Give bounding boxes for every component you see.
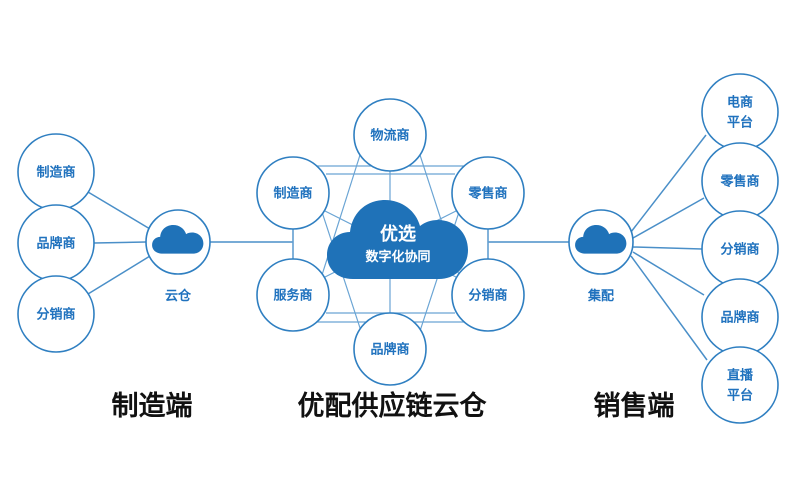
hub-cloud-node[interactable]: 优选 数字化协同 bbox=[327, 200, 468, 279]
link-left-dist-cloud bbox=[88, 256, 150, 294]
diagram-canvas: 制造商 品牌商 分销商 云仓 物流商 bbox=[0, 0, 801, 500]
supply-chain-diagram: 制造商 品牌商 分销商 云仓 物流商 bbox=[0, 0, 801, 500]
link-left-brand-cloud bbox=[94, 242, 146, 243]
node-hex-brand[interactable]: 品牌商 bbox=[354, 313, 426, 385]
node-label: 服务商 bbox=[273, 287, 312, 302]
node-right-brand[interactable]: 品牌商 bbox=[702, 279, 778, 355]
node-circle[interactable] bbox=[702, 74, 778, 150]
node-right-retailer[interactable]: 零售商 bbox=[702, 143, 778, 219]
section-titles: 制造端 优配供应链云仓 销售端 bbox=[112, 390, 675, 421]
node-label: 制造商 bbox=[36, 164, 75, 179]
link-consol-retailer bbox=[633, 198, 704, 238]
node-label: 品牌商 bbox=[720, 309, 759, 324]
cloud-warehouse-label: 云仓 bbox=[165, 288, 192, 303]
hub-title: 优选 bbox=[380, 223, 416, 244]
node-hex-service[interactable]: 服务商 bbox=[257, 259, 329, 331]
node-circle[interactable] bbox=[702, 347, 778, 423]
node-left-manufacturer[interactable]: 制造商 bbox=[18, 134, 94, 210]
node-label: 分销商 bbox=[468, 287, 507, 302]
link-consol-live bbox=[631, 256, 707, 360]
section-title-manufacturing: 制造端 bbox=[112, 391, 193, 421]
node-label-line2: 平台 bbox=[727, 387, 753, 402]
node-hex-manufacturer[interactable]: 制造商 bbox=[257, 157, 329, 229]
node-label: 分销商 bbox=[36, 306, 75, 321]
node-label: 品牌商 bbox=[370, 341, 409, 356]
node-label: 分销商 bbox=[720, 241, 759, 256]
node-left-brand[interactable]: 品牌商 bbox=[18, 205, 94, 281]
node-label: 物流商 bbox=[370, 127, 409, 142]
node-right-distributor[interactable]: 分销商 bbox=[702, 211, 778, 287]
node-label: 制造商 bbox=[273, 185, 312, 200]
link-left-mfr-cloud bbox=[88, 192, 150, 229]
section-title-supply-chain: 优配供应链云仓 bbox=[298, 390, 488, 421]
hub-subtitle: 数字化协同 bbox=[365, 249, 430, 264]
node-label: 品牌商 bbox=[36, 235, 75, 250]
node-right-ecommerce-platform[interactable]: 电商 平台 bbox=[702, 74, 778, 150]
node-label-line1: 直播 bbox=[727, 367, 754, 382]
node-label-line1: 电商 bbox=[727, 94, 753, 109]
cloud-warehouse-node[interactable]: 云仓 bbox=[146, 210, 210, 303]
node-hex-retailer[interactable]: 零售商 bbox=[452, 157, 524, 229]
node-hex-distributor[interactable]: 分销商 bbox=[452, 259, 524, 331]
center-cluster: 物流商 零售商 分销商 品牌商 服务商 制造商 bbox=[257, 99, 524, 385]
cloud-consolidation-node[interactable]: 集配 bbox=[569, 210, 633, 303]
cloud-consolidation-label: 集配 bbox=[587, 288, 614, 303]
section-title-sales: 销售端 bbox=[594, 390, 675, 421]
node-label: 零售商 bbox=[467, 185, 507, 200]
node-label: 零售商 bbox=[719, 173, 759, 188]
node-hex-logistics[interactable]: 物流商 bbox=[354, 99, 426, 171]
link-consol-distributor bbox=[633, 247, 702, 249]
node-label-line2: 平台 bbox=[727, 114, 753, 129]
node-left-distributor[interactable]: 分销商 bbox=[18, 276, 94, 352]
node-right-live-platform[interactable]: 直播 平台 bbox=[702, 347, 778, 423]
